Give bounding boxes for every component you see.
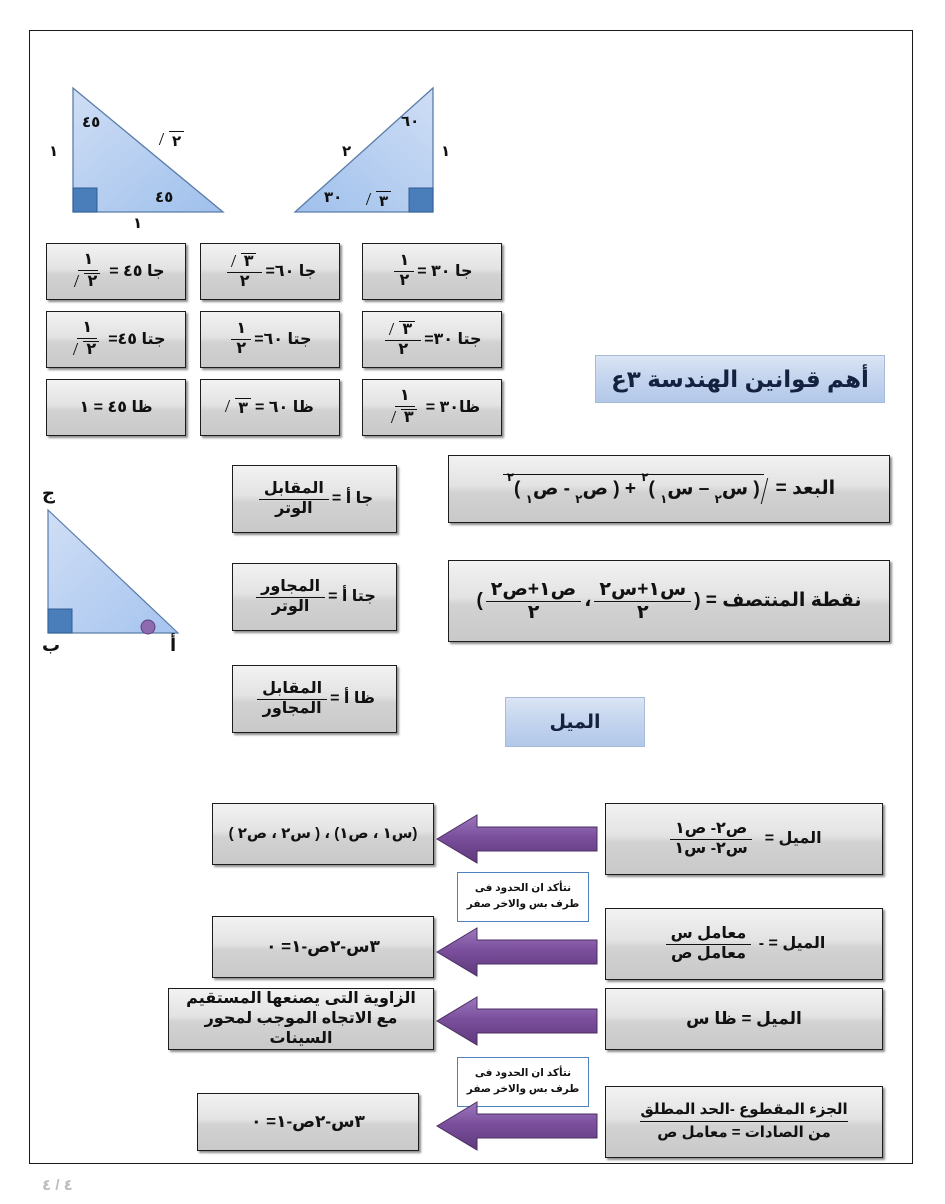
equals-sign: = (706, 589, 717, 613)
trig-angle-label: ٣٠ (439, 398, 459, 418)
trig-func-label: جا (299, 262, 317, 282)
ratio-lhs: ظا أ (344, 689, 375, 709)
distance-term1-open: ( س (722, 478, 760, 499)
trig-angle-label: ٦٠ (264, 330, 284, 350)
arrow-to-two-points-result (437, 813, 597, 865)
arrow-to-angle-description (437, 995, 597, 1047)
arrow-to-line-equation-2 (437, 1100, 597, 1152)
distance-term2-open: ( ص (582, 478, 619, 499)
trig-func-label: جا (147, 262, 165, 282)
slope-result-line-equation-2: ٣س-٢ص-١= ٠ (197, 1093, 419, 1151)
midpoint-close-paren: ) (476, 589, 482, 613)
triangle-30-60-90: ٦٠ ٣٠ ١ ٢ ٣ (285, 80, 485, 230)
fraction-numerator: ص١+ص٢ (486, 580, 581, 602)
fraction-denominator: ٢ (394, 272, 414, 290)
root-value: ٣ (376, 191, 391, 210)
trig-angle-label: ٤٥ (107, 398, 127, 418)
root-value: ٢ (84, 273, 100, 291)
root-value: ٣ (399, 321, 415, 339)
distance-formula: البعد = ( س٢ – س١ )٢ + ( ص٢ - ص١ )٢ (448, 455, 890, 523)
root-value: ٣ (235, 398, 251, 419)
note-terms-one-side-1: نتأكد ان الحدود فى طرف بس والاخر صفر (457, 872, 589, 922)
slope-formula-coefficients: الميل = - معامل س معامل ص (605, 908, 883, 980)
distance-term2-sub1: ١ (526, 493, 533, 506)
triangle-30-angle-bottom: ٣٠ (324, 188, 342, 206)
triangle-abc: ج ب أ (30, 485, 205, 660)
slope-result-text: ٣س-٢ص-١= ٠ (251, 1111, 365, 1132)
trig-func-label: ظا (459, 398, 480, 418)
fraction-denominator: معامل ص (666, 945, 751, 963)
root-value: ٢ (169, 131, 184, 150)
trig-cell-cos-60: جتا ٦٠= ١ ٢ (200, 311, 340, 368)
trig-angle-label: ٦٠ (269, 398, 289, 418)
slope-lhs: الميل = ظا س (686, 1008, 802, 1029)
distance-plus: + (625, 478, 636, 499)
trig-cell-sin-30: جا ٣٠ = ١ ٢ (362, 243, 502, 300)
trig-func-label: جتا (142, 330, 166, 350)
triangle-abc-vertex-top: ج (42, 483, 55, 504)
slope-result-text: ٣س-٢ص-١= ٠ (266, 936, 380, 957)
distance-term2-close: ) (514, 478, 520, 499)
distance-term1-sub2: ٢ (715, 493, 722, 506)
ratio-definition-sin: جا أ = المقابل الوتر (232, 465, 397, 533)
trig-func-label: جا (455, 262, 473, 282)
trig-angle-label: ٦٠ (275, 262, 295, 282)
slope-lhs: الميل = - (759, 934, 826, 954)
slope-result-two-points: (س١ ، ص١) ، ( س٢ ، ص٢ ) (212, 803, 434, 865)
triangle-30-hypotenuse: ٢ (342, 142, 351, 160)
trig-cell-sin-60: جا ٦٠= ٣ ٢ (200, 243, 340, 300)
trig-func-label: جتا (288, 330, 312, 350)
distance-term2-var2: ص (533, 478, 559, 499)
fraction-numerator: ص٢- ص١ (670, 821, 752, 840)
fraction-denominator: الوتر (267, 598, 314, 616)
fraction-numerator: ١ (78, 252, 98, 271)
page-marker: ٤ / ٤ (42, 1176, 73, 1194)
fraction-numerator: ٣ (385, 320, 421, 341)
trig-cell-tan-45: ظا ٤٥ = ١ (46, 379, 186, 436)
fraction-numerator: ١ (395, 388, 415, 407)
fraction-denominator: المجاور (258, 700, 327, 718)
slope-section-heading: الميل (505, 697, 645, 747)
root-value: ٢ (83, 341, 99, 359)
note-text: نتأكد ان الحدود فى طرف بس والاخر صفر (462, 1066, 584, 1098)
trig-func-label: جتا (458, 330, 482, 350)
page-title: أهم قوانين الهندسة ٣ع (595, 355, 885, 403)
trig-func-label: ظا (293, 398, 314, 418)
fraction-numerator: معامل س (666, 926, 752, 945)
ratio-definition-tan: ظا أ = المقابل المجاور (232, 665, 397, 733)
slope-result-text: (س١ ، ص١) ، ( س٢ ، ص٢ ) (229, 825, 418, 844)
root-value: ٣ (401, 409, 417, 427)
triangle-45-side-bottom: ١ (133, 214, 142, 232)
midpoint-open-paren: ( (694, 589, 700, 613)
trig-cell-cos-45: جتا ٤٥= ١ ٢ (46, 311, 186, 368)
fraction-denominator: ٢ (231, 340, 251, 358)
slope-result-angle-description: الزاوية التى يصنعها المستقيم مع الاتجاه … (168, 988, 434, 1050)
fraction-denominator: الوتر (270, 500, 317, 518)
midpoint-label: نقطة المنتصف (722, 589, 861, 613)
distance-power2: ٢ (507, 471, 514, 484)
distance-term1-close: ) (649, 478, 655, 499)
trig-angle-label: ٣٠ (431, 262, 451, 282)
trig-cell-tan-60: ظا ٦٠ = ٣ (200, 379, 340, 436)
trig-cell-tan-30: ظا٣٠ = ١ ٣ (362, 379, 502, 436)
ratio-definition-cos: جتا أ = المجاور الوتر (232, 563, 397, 631)
trig-angle-label: ٤٥ (118, 330, 138, 350)
intercept-line-1: الجزء المقطوع -الحد المطلق (640, 1101, 847, 1122)
fraction-denominator: ٢ (632, 602, 654, 623)
fraction-denominator: ٢ (69, 339, 105, 359)
intercept-line-2: من الصادات = معامل ص (657, 1122, 831, 1143)
page-title-text: أهم قوانين الهندسة ٣ع (611, 366, 869, 393)
note-text: نتأكد ان الحدود فى طرف بس والاخر صفر (462, 881, 584, 913)
root-value: ٣ (241, 253, 257, 271)
ratio-lhs: جتا أ (342, 587, 376, 607)
slope-formula-two-points: الميل = ص٢- ص١ س٢- س١ (605, 803, 883, 875)
trig-angle-label: ٤٥ (123, 262, 143, 282)
slope-lhs: الميل = (765, 829, 822, 849)
trig-cell-cos-30: جتا ٣٠= ٣ ٢ (362, 311, 502, 368)
fraction-numerator: المقابل (259, 481, 329, 500)
fraction-numerator: المجاور (256, 579, 325, 598)
fraction-numerator: ١ (394, 253, 414, 272)
fraction-numerator: ٣ (227, 252, 263, 273)
slope-heading-text: الميل (549, 711, 600, 734)
intercept-formula: الجزء المقطوع -الحد المطلق من الصادات = … (605, 1086, 883, 1158)
fraction-numerator: ١ (231, 321, 251, 340)
triangle-45-hypotenuse-root: ٢ (160, 130, 185, 150)
triangle-abc-vertex-bottom-right: أ (170, 635, 176, 656)
ratio-lhs: جا أ (346, 489, 373, 509)
midpoint-formula: نقطة المنتصف = ( س١+س٢ ٢ ، ص١+ص٢ ٢ ) (448, 560, 890, 642)
fraction-denominator: ٢ (393, 341, 413, 359)
triangle-30-side-right: ١ (441, 142, 450, 160)
fraction-denominator: ٢ (70, 271, 106, 291)
slope-result-text: الزاوية التى يصنعها المستقيم مع الاتجاه … (177, 989, 425, 1049)
distance-term1-sub1: ١ (660, 493, 667, 506)
triangle-45-angle-bottom: ٤٥ (155, 188, 173, 206)
triangle-45-45-90: ٤٥ ٤٥ ١ ١ ٢ (55, 80, 255, 230)
distance-label: البعد (792, 477, 835, 501)
fraction-numerator: ١ (77, 320, 97, 339)
fraction-denominator: ٣ (387, 407, 423, 427)
trig-value: ١ (79, 398, 89, 418)
fraction-denominator: ٢ (235, 273, 255, 291)
distance-term2-minus: - (564, 478, 570, 499)
triangle-30-angle-top: ٦٠ (401, 112, 419, 130)
trig-func-label: ظا (131, 398, 152, 418)
fraction-numerator: س١+س٢ (594, 580, 691, 602)
distance-power1: ٢ (641, 471, 648, 484)
midpoint-comma: ، (584, 589, 591, 613)
distance-term1-var2: س (667, 478, 693, 499)
fraction-numerator: المقابل (257, 681, 327, 700)
trig-angle-label: ٣٠ (434, 330, 454, 350)
slope-result-line-equation-1: ٣س-٢ص-١= ٠ (212, 916, 434, 978)
fraction-denominator: س٢- س١ (669, 840, 752, 858)
triangle-45-angle-top: ٤٥ (82, 113, 100, 131)
triangle-abc-vertex-bottom-left: ب (42, 635, 60, 656)
trig-cell-sin-45: جا ٤٥ = ١ ٢ (46, 243, 186, 300)
triangle-45-side-left: ١ (49, 142, 58, 160)
arrow-to-line-equation-1 (437, 926, 597, 978)
slope-formula-tan-angle: الميل = ظا س (605, 988, 883, 1050)
fraction-denominator: ٢ (523, 602, 545, 623)
distance-minus: – (699, 478, 710, 499)
distance-term2-sub2: ٢ (575, 493, 582, 506)
triangle-30-base-root: ٣ (367, 190, 392, 210)
